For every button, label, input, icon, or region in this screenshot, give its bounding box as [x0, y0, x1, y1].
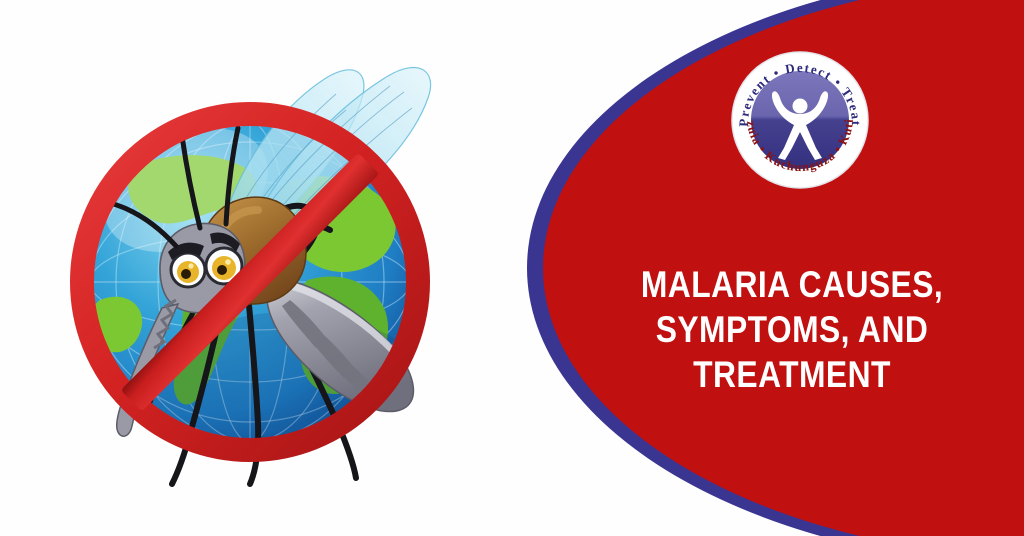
no-mosquito-globe-illustration — [40, 32, 460, 502]
headline-line-2: SYMPTOMS, AND — [620, 307, 964, 352]
page-title: MALARIA CAUSES, SYMPTOMS, AND TREATMENT — [620, 262, 964, 397]
headline-line-1: MALARIA CAUSES, — [620, 262, 964, 307]
banner-root: Prevent • Detect • Treat Kuzuia • Kuchun… — [0, 0, 1024, 536]
organisation-logo[interactable]: Prevent • Detect • Treat Kuzuia • Kuchun… — [728, 48, 872, 192]
headline-line-3: TREATMENT — [620, 352, 964, 397]
